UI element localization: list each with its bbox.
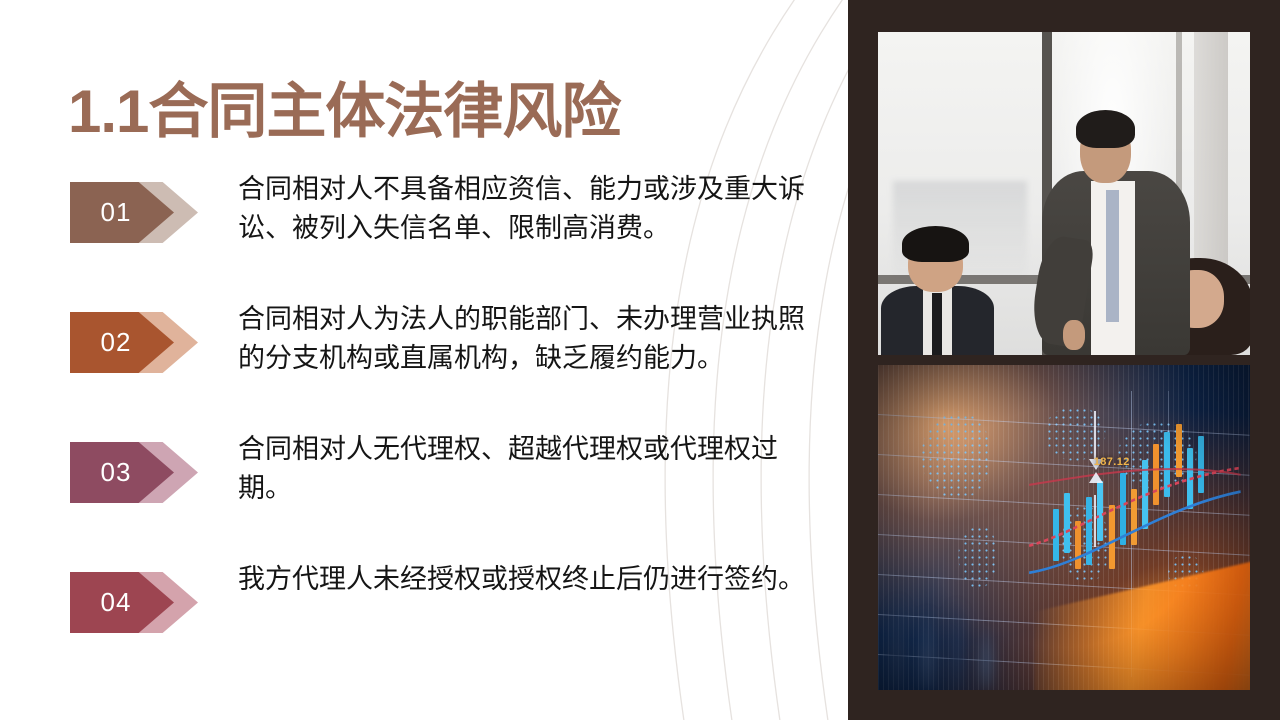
list-item: 01 合同相对人不具备相应资信、能力或涉及重大诉讼、被列入失信名单、限制高消费。 xyxy=(0,176,830,306)
right-image-panel: 187.12 xyxy=(848,0,1280,720)
item-text: 我方代理人未经授权或授权终止后仍进行签约。 xyxy=(238,560,810,599)
list-item: 04 我方代理人未经授权或授权终止后仍进行签约。 xyxy=(0,566,830,696)
item-number-label: 02 xyxy=(101,327,132,358)
list-item: 03 合同相对人无代理权、超越代理权或代理权过期。 xyxy=(0,436,830,566)
item-number-badge: 01 xyxy=(70,182,198,243)
item-text: 合同相对人为法人的职能部门、未办理营业执照的分支机构或直属机构，缺乏履约能力。 xyxy=(238,300,810,378)
slide-root: 1.1合同主体法律风险 01 合同相对人不具备相应资信、能力或涉及重大诉讼、被列… xyxy=(0,0,1280,720)
item-number-label: 03 xyxy=(101,457,132,488)
item-text: 合同相对人无代理权、超越代理权或代理权过期。 xyxy=(238,430,810,508)
risk-item-list: 01 合同相对人不具备相应资信、能力或涉及重大诉讼、被列入失信名单、限制高消费。… xyxy=(0,176,830,696)
item-number-badge: 02 xyxy=(70,312,198,373)
list-item: 02 合同相对人为法人的职能部门、未办理营业执照的分支机构或直属机构，缺乏履约能… xyxy=(0,306,830,436)
item-number-label: 01 xyxy=(101,197,132,228)
item-number-badge: 04 xyxy=(70,572,198,633)
person-standing-center xyxy=(1042,119,1191,355)
photo-business-team xyxy=(878,32,1250,355)
item-number-badge: 03 xyxy=(70,442,198,503)
person-seated-left xyxy=(885,235,989,355)
page-title: 1.1合同主体法律风险 xyxy=(68,63,620,150)
photo-vignette xyxy=(878,365,1250,690)
item-number-label: 04 xyxy=(101,587,132,618)
photo-financial-data: 187.12 xyxy=(878,365,1250,690)
item-text: 合同相对人不具备相应资信、能力或涉及重大诉讼、被列入失信名单、限制高消费。 xyxy=(238,170,810,248)
